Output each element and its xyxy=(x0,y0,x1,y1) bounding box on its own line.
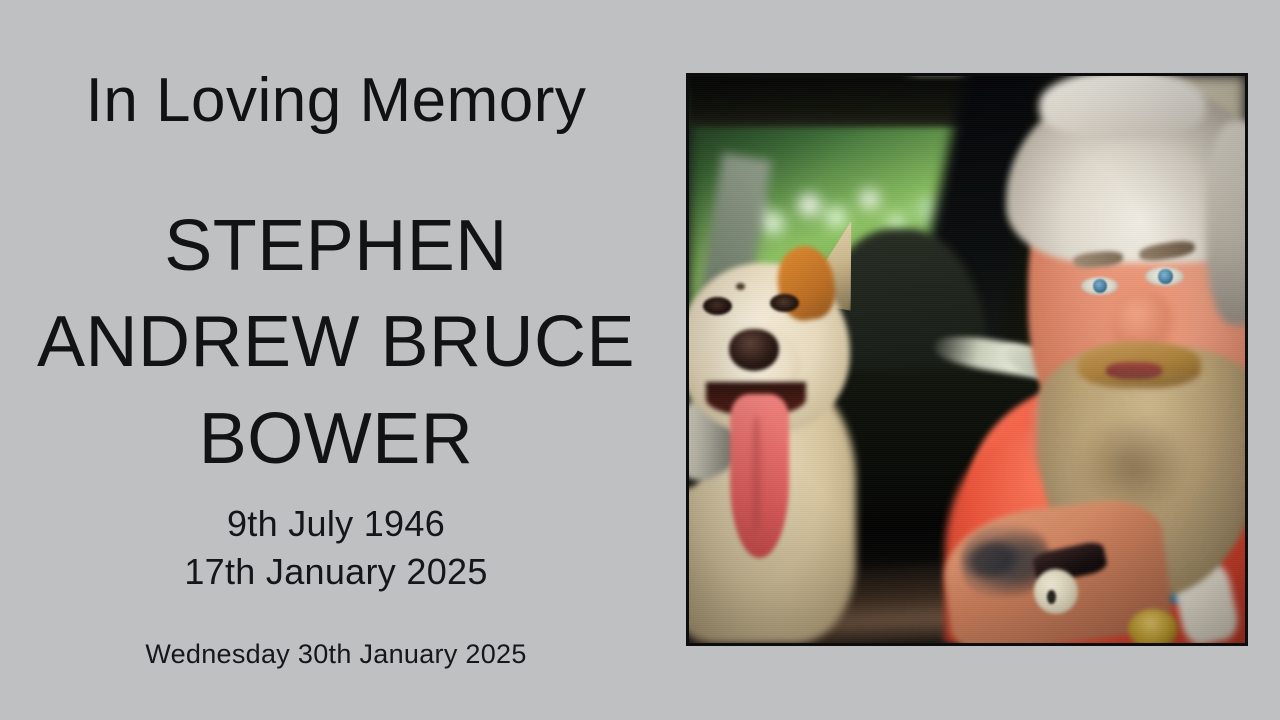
man-iris-left xyxy=(1093,279,1107,293)
deceased-name-line-2: ANDREW BRUCE xyxy=(0,294,672,390)
life-dates-block: 9th July 1946 17th January 2025 xyxy=(0,500,672,596)
man-iris-right xyxy=(1158,269,1172,284)
gold-ring xyxy=(1128,609,1178,643)
man-hair-tuft xyxy=(1039,76,1206,138)
memorial-text-column: In Loving Memory STEPHEN ANDREW BRUCE BO… xyxy=(0,0,672,720)
service-date: Wednesday 30th January 2025 xyxy=(0,639,672,670)
dog-tongue-crease xyxy=(752,416,761,529)
page-title: In Loving Memory xyxy=(0,68,672,133)
deceased-name-block: STEPHEN ANDREW BRUCE BOWER xyxy=(0,198,672,487)
deceased-name-line-3: BOWER xyxy=(0,391,672,487)
memorial-slide: In Loving Memory STEPHEN ANDREW BRUCE BO… xyxy=(0,0,1280,720)
date-of-death: 17th January 2025 xyxy=(0,548,672,596)
memorial-photo xyxy=(689,76,1245,643)
date-of-birth: 9th July 1946 xyxy=(0,500,672,548)
dog-nose xyxy=(729,329,779,371)
dog-brow-spot xyxy=(736,283,745,290)
dog-eye-right xyxy=(770,294,799,312)
deceased-name-line-1: STEPHEN xyxy=(0,198,672,294)
memorial-photo-frame xyxy=(686,73,1248,646)
man-hair-side xyxy=(1206,121,1245,325)
